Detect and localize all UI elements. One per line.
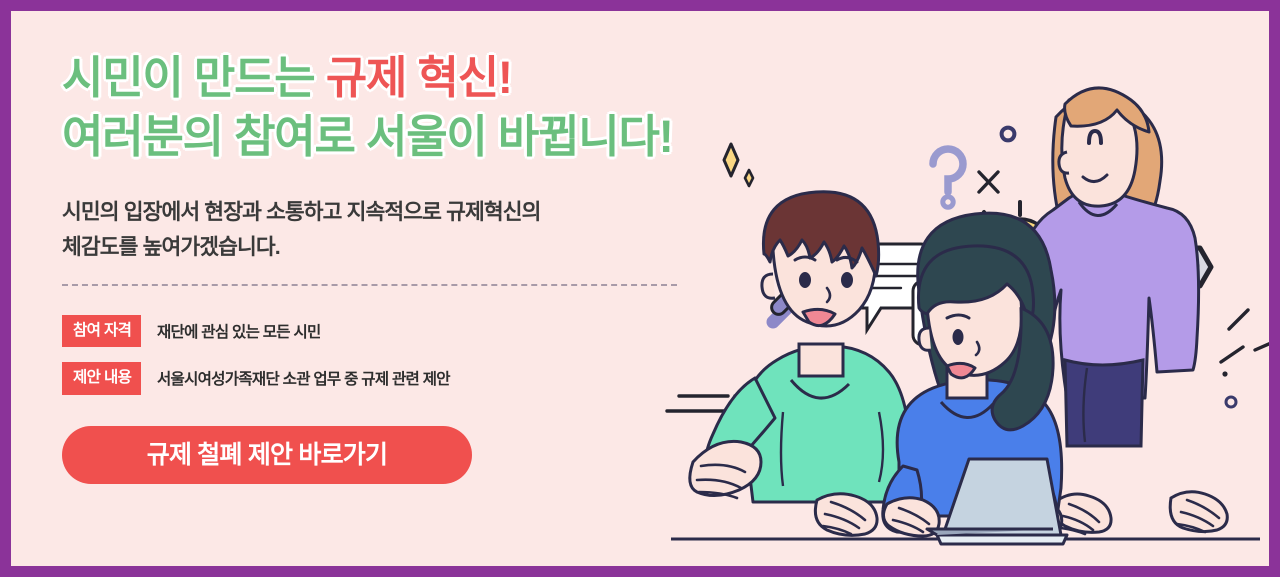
subtitle-line1: 시민의 입장에서 현장과 소통하고 지속적으로 규제혁신의 [62, 200, 541, 224]
info-row-eligibility: 참여 자격 재단에 관심 있는 모든 시민 [62, 315, 722, 348]
speed-lines-icon [1221, 310, 1280, 362]
banner-content: 시민이 만드는 규제 혁신! 여러분의 참여로 서울이 바뀝니다! 시민의 입장… [62, 49, 722, 484]
dashed-divider [62, 284, 677, 286]
headline-line1-highlight: 규제 혁신! [326, 52, 512, 103]
character-man-green [690, 192, 911, 536]
info-list: 참여 자격 재단에 관심 있는 모든 시민 제안 내용 서울시여성가족재단 소관… [62, 315, 722, 395]
sparkle-icon [724, 144, 753, 186]
info-row-proposal: 제안 내용 서울시여성가족재단 소관 업무 중 규제 관련 제안 [62, 362, 722, 395]
x-spark-icon [979, 172, 998, 192]
info-text-proposal: 서울시여성가족재단 소관 업무 중 규제 관련 제안 [157, 367, 450, 389]
info-text-eligibility: 재단에 관심 있는 모든 시민 [157, 320, 321, 342]
info-badge-eligibility: 참여 자격 [62, 315, 141, 348]
circle-dot-icon [1002, 128, 1015, 141]
subtitle: 시민의 입장에서 현장과 소통하고 지속적으로 규제혁신의 체감도를 높여가겠습… [62, 166, 722, 265]
question-mark-icon [933, 149, 963, 207]
headline-line1-plain: 시민이 만드는 [62, 52, 326, 103]
dot-icon [1222, 371, 1227, 376]
promo-banner: 시민이 만드는 규제 혁신! 여러분의 참여로 서울이 바뀝니다! 시민의 입장… [0, 0, 1280, 577]
illustration: .ln { fill:none; stroke:#2B2B4A; stroke-… [651, 22, 1280, 577]
info-badge-proposal: 제안 내용 [62, 362, 141, 395]
headline: 시민이 만드는 규제 혁신! 여러분의 참여로 서울이 바뀝니다! [62, 49, 722, 166]
headline-line2: 여러분의 참여로 서울이 바뀝니다! [62, 111, 673, 162]
cta-proposal-button[interactable]: 규제 철폐 제안 바로가기 [62, 426, 472, 484]
circle-ring-icon [1226, 397, 1236, 407]
subtitle-line2: 체감도를 높여가겠습니다. [62, 235, 280, 259]
